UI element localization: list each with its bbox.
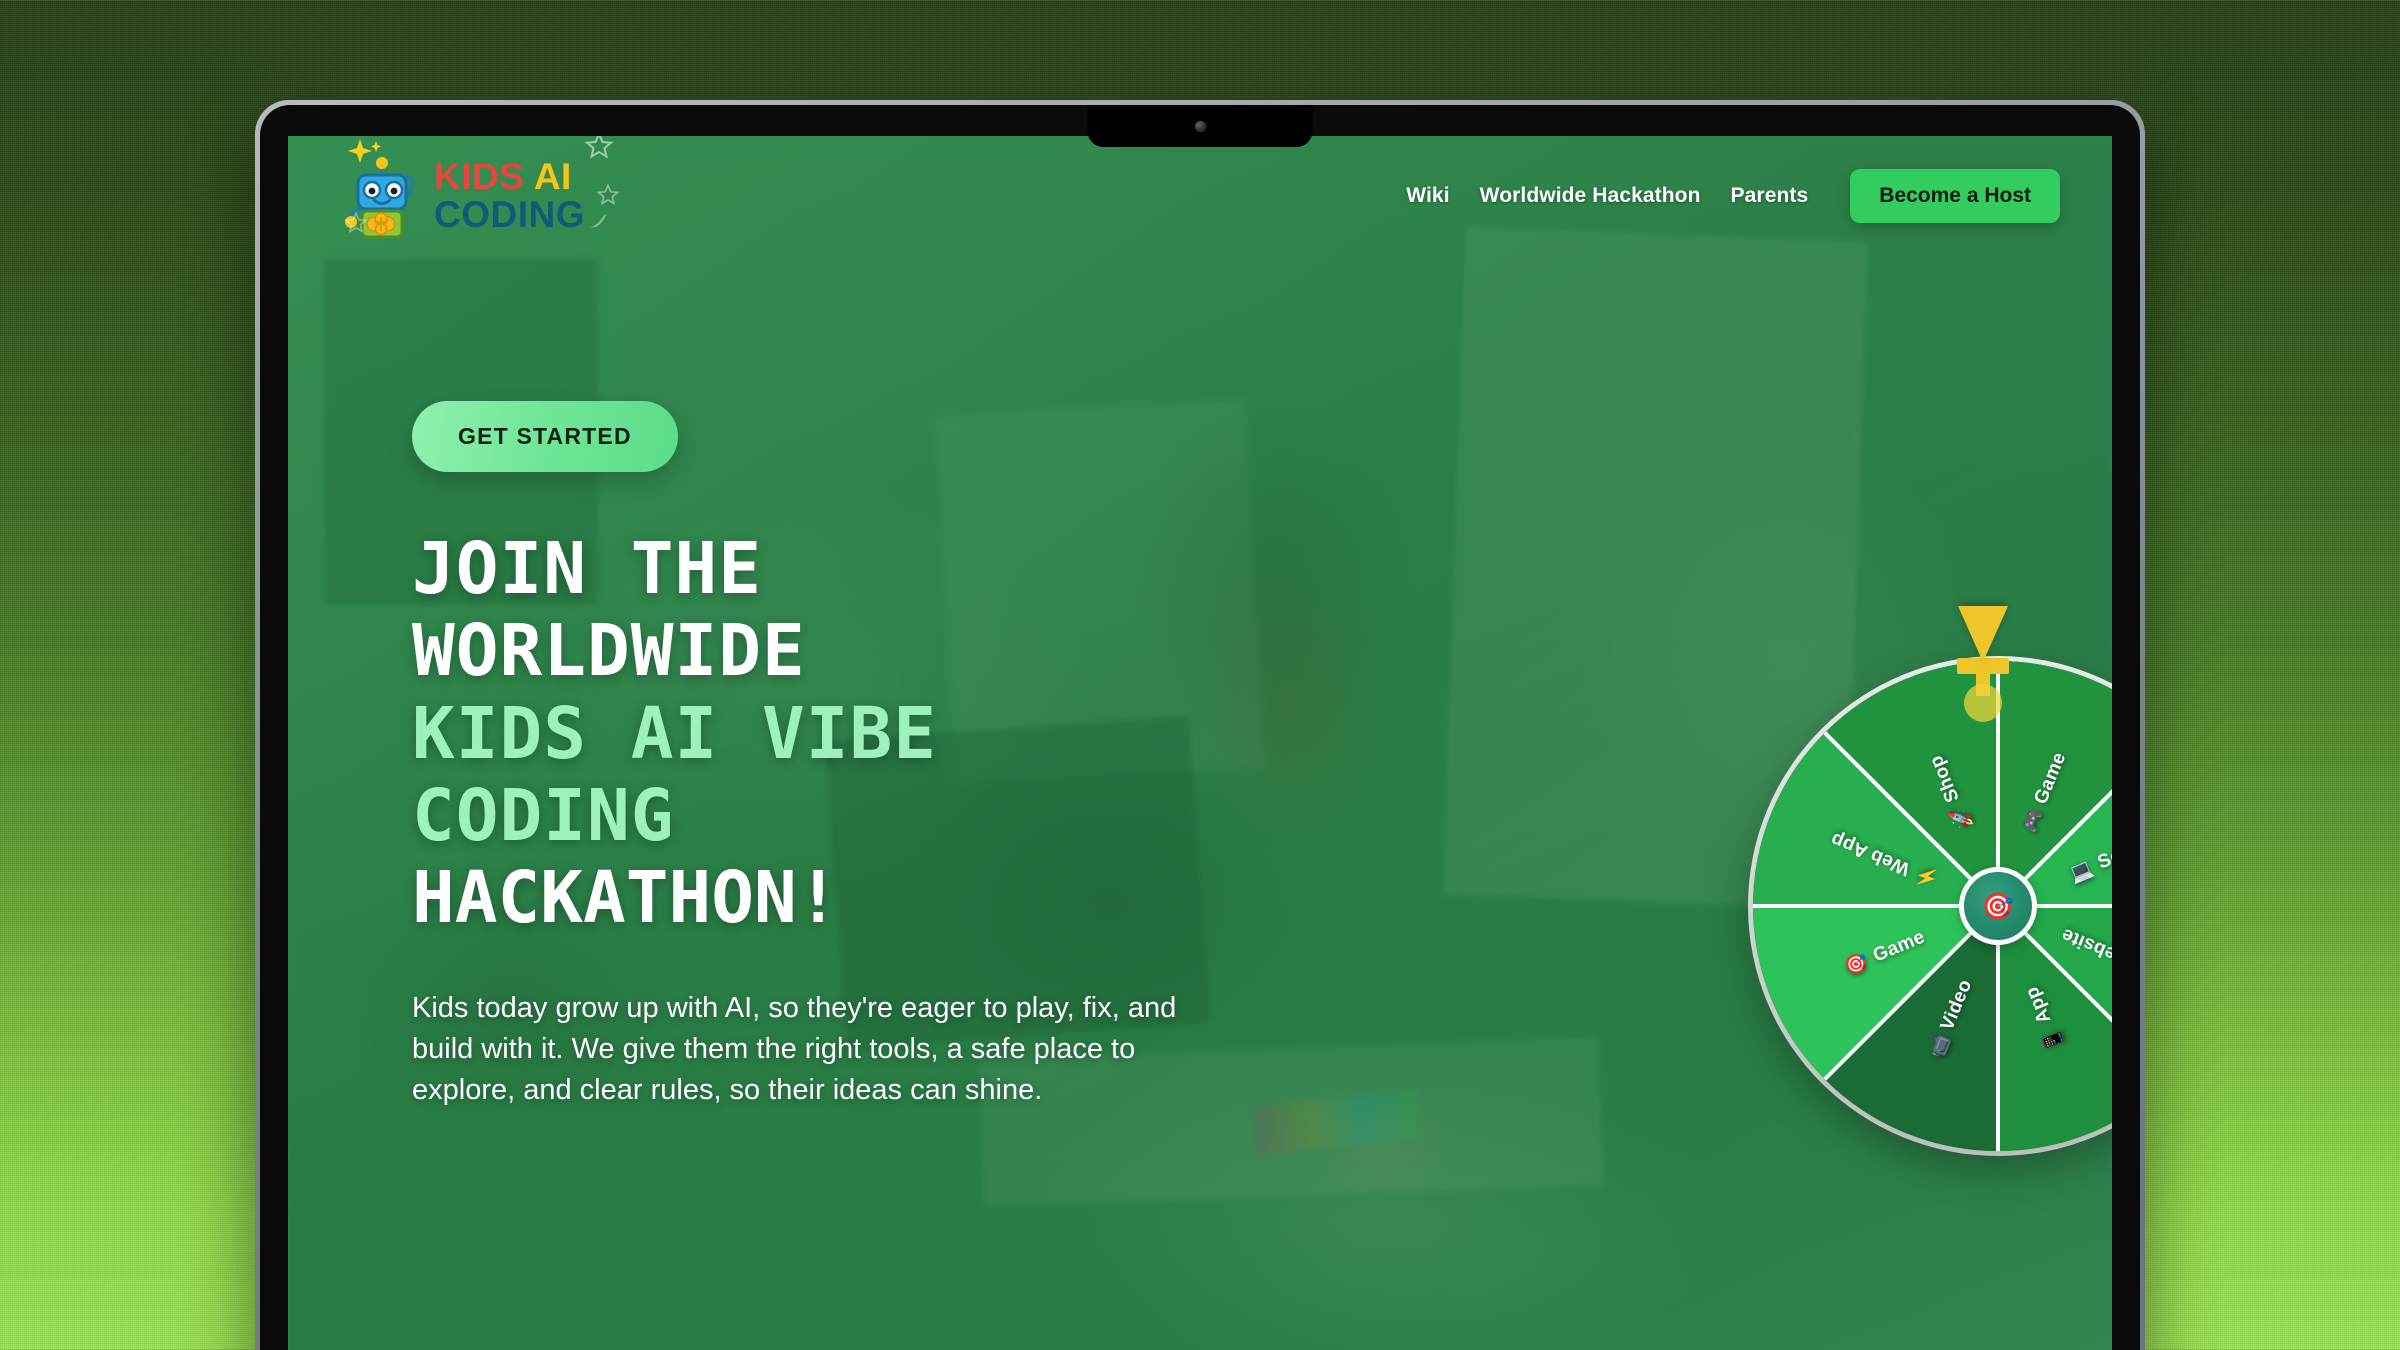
nav-link-parents[interactable]: Parents — [1727, 178, 1813, 214]
become-a-host-button[interactable]: Become a Host — [1850, 169, 2060, 223]
star-outline-icon — [584, 136, 614, 161]
logo-kids: KIDS — [434, 156, 524, 197]
logo-coding: CODING — [434, 197, 585, 233]
robot-brain-icon — [344, 153, 420, 239]
site-header: KIDS AI CODING — [288, 136, 2112, 256]
spin-wheel-widget[interactable]: 🎮Game💻SocialWebsite🌐App📱Video📹Game🎯⚡Web … — [1728, 606, 2112, 1146]
leaf-sparkle-icon — [584, 207, 610, 233]
brand-logo[interactable]: KIDS AI CODING — [344, 153, 585, 239]
headline-line-2: WORLDWIDE — [412, 610, 1292, 692]
hero-paragraph: Kids today grow up with AI, so they're e… — [412, 988, 1212, 1112]
headline-line-5: HACKATHON! — [412, 857, 1292, 939]
hero-section: GET STARTED JOIN THE WORLDWIDE KIDS AI V… — [412, 401, 1292, 1111]
prize-wheel[interactable]: 🎮Game💻SocialWebsite🌐App📱Video📹Game🎯⚡Web … — [1753, 661, 2112, 1151]
laptop-notch — [1088, 105, 1313, 147]
headline-line-4: CODING — [412, 775, 1292, 857]
laptop-outer-shell: KIDS AI CODING — [255, 100, 2145, 1350]
main-navigation: Wiki Worldwide Hackathon Parents Become … — [1402, 169, 2060, 223]
brand-wordmark: KIDS AI CODING — [434, 159, 585, 232]
nav-link-worldwide-hackathon[interactable]: Worldwide Hackathon — [1476, 178, 1705, 214]
headline-line-1: JOIN THE — [412, 528, 1292, 610]
browser-viewport: KIDS AI CODING — [288, 136, 2112, 1350]
triangle-pointer-icon — [1957, 606, 2009, 722]
wheel-hub-dart-target-icon[interactable]: 🎯 — [1959, 867, 2037, 945]
laptop-bezel: KIDS AI CODING — [260, 105, 2140, 1350]
star-outline-icon — [596, 183, 620, 207]
logo-ai: AI — [534, 156, 572, 197]
page-title: JOIN THE WORLDWIDE KIDS AI VIBE CODING H… — [412, 528, 1292, 940]
laptop-device-frame: KIDS AI CODING — [255, 100, 2145, 1350]
headline-line-3: KIDS AI VIBE — [412, 693, 1292, 775]
webcam-icon — [1195, 121, 1206, 132]
nav-link-wiki[interactable]: Wiki — [1402, 178, 1453, 214]
get-started-button[interactable]: GET STARTED — [412, 401, 678, 472]
